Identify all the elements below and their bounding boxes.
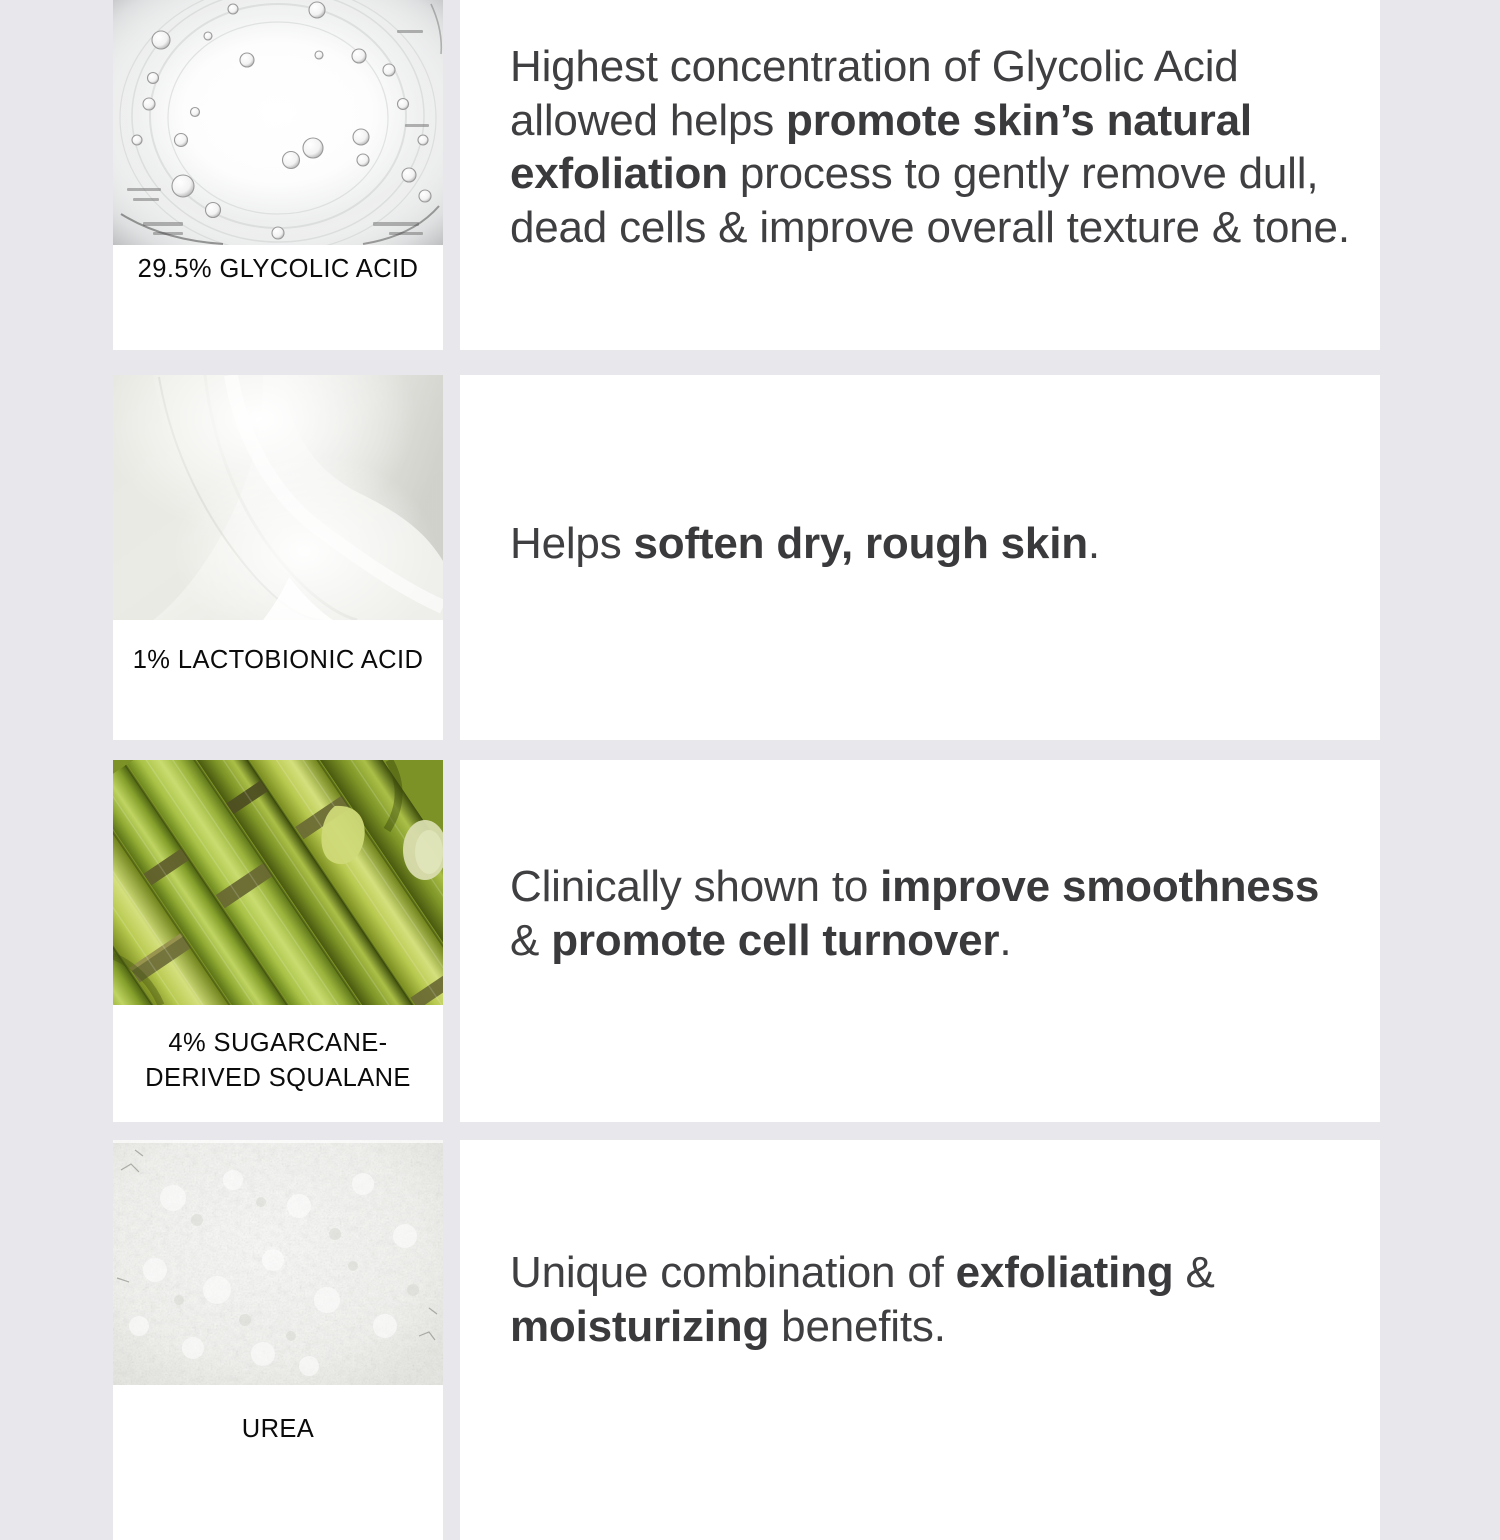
sugarcane-stalks-image xyxy=(113,760,443,1005)
ingredient-caption: 4% SUGARCANE-DERIVED SQUALANE xyxy=(113,1026,443,1096)
benefit-card: Helps soften dry, rough skin. xyxy=(460,375,1380,740)
ingredient-card: 1% LACTOBIONIC ACID xyxy=(113,375,443,740)
ingredient-row: 29.5% GLYCOLIC ACID Highest concentratio… xyxy=(0,0,1500,350)
ingredient-card: 29.5% GLYCOLIC ACID xyxy=(113,0,443,350)
ingredient-row: 4% SUGARCANE-DERIVED SQUALANE Clinically… xyxy=(0,760,1500,1122)
benefit-card: Highest concentration of Glycolic Acid a… xyxy=(460,0,1380,350)
ingredient-benefit-grid: 29.5% GLYCOLIC ACID Highest concentratio… xyxy=(0,0,1500,1500)
benefit-text: Helps soften dry, rough skin. xyxy=(510,517,1352,571)
white-cream-swirl-texture-image xyxy=(113,375,443,620)
ingredient-row: UREA Unique combination of exfoliating &… xyxy=(0,1140,1500,1540)
ingredient-row: 1% LACTOBIONIC ACID Helps soften dry, ro… xyxy=(0,375,1500,740)
ingredient-card: UREA xyxy=(113,1140,443,1540)
benefit-card: Unique combination of exfoliating & mois… xyxy=(460,1140,1380,1540)
urea-white-powder-image xyxy=(113,1140,443,1385)
ingredient-caption: 1% LACTOBIONIC ACID xyxy=(113,643,443,678)
ingredient-caption: 29.5% GLYCOLIC ACID xyxy=(113,252,443,287)
benefit-card: Clinically shown to improve smoothness &… xyxy=(460,760,1380,1122)
benefit-text: Unique combination of exfoliating & mois… xyxy=(510,1246,1352,1353)
glycolic-acid-gel-texture-image xyxy=(113,0,443,245)
ingredient-card: 4% SUGARCANE-DERIVED SQUALANE xyxy=(113,760,443,1122)
benefit-text: Highest concentration of Glycolic Acid a… xyxy=(510,40,1352,255)
ingredient-caption: UREA xyxy=(113,1412,443,1447)
benefit-text: Clinically shown to improve smoothness &… xyxy=(510,860,1352,967)
